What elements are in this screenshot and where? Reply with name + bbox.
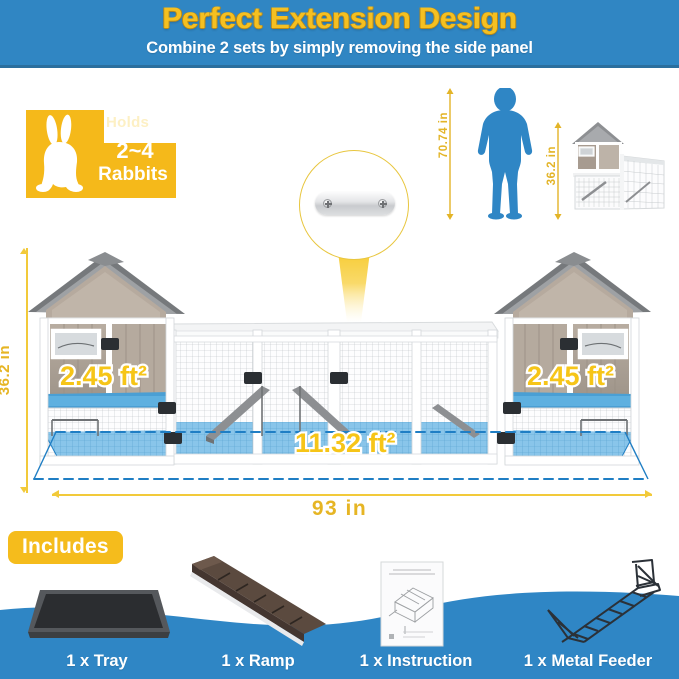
dimension-shaft [26,248,28,493]
center-area-label: 11.32 ft² [295,428,396,459]
screw-right-icon [378,199,387,208]
header-underline [0,65,679,68]
rabbit-icon [34,114,96,196]
right-hutch [494,252,651,465]
badge-holds-label: Holds [106,114,176,131]
page-title: Perfect Extension Design [0,2,679,36]
badge-count: 2~4 [94,140,176,162]
include-item-ramp [178,552,338,647]
dimension-arrow-bottom-icon [20,487,28,493]
include-label-tray: 1 x Tray [22,652,172,671]
dimension-shaft [52,494,652,496]
person-silhouette-icon [462,88,548,220]
include-label-ramp: 1 x Ramp [178,652,338,671]
instruction-manual-icon [375,560,455,648]
right-area-label: 2.45 ft² [527,361,614,392]
latch-hardware [164,432,182,444]
height-dimension-label: 36.2 in [0,345,13,395]
left-hutch [28,252,185,465]
capacity-badge: Holds 2~4 Rabbits [26,110,176,198]
height-dimension-line [20,248,34,493]
include-item-metal-feeder [512,556,667,648]
badge-unit: Rabbits [90,165,176,184]
metal-connector-plate-icon [315,192,395,215]
mini-hutch-illustration [568,116,668,220]
left-area-label: 2.45 ft² [60,361,147,392]
header-banner: Perfect Extension Design Combine 2 sets … [0,0,679,68]
latch-hardware [158,402,176,414]
includes-title: Includes [8,531,123,564]
hutch-height-label: 36.2 in [546,146,558,185]
latch-hardware [101,338,119,350]
include-item-tray [22,580,172,640]
screw-left-icon [323,199,332,208]
include-label-instruction: 1 x Instruction [352,652,480,671]
page-subtitle: Combine 2 sets by simply removing the si… [0,39,679,58]
scale-comparison: 70.74 in 36.2 in [440,88,670,220]
ramp-icon [178,552,338,647]
tray-icon [22,580,172,640]
width-dimension-label: 93 in [0,497,679,521]
person-height-label: 70.74 in [438,112,450,158]
include-item-instruction [375,560,455,648]
include-label-metal-feeder: 1 x Metal Feeder [500,652,676,671]
infographic-root: Perfect Extension Design Combine 2 sets … [0,0,679,679]
metal-feeder-icon [512,556,667,648]
